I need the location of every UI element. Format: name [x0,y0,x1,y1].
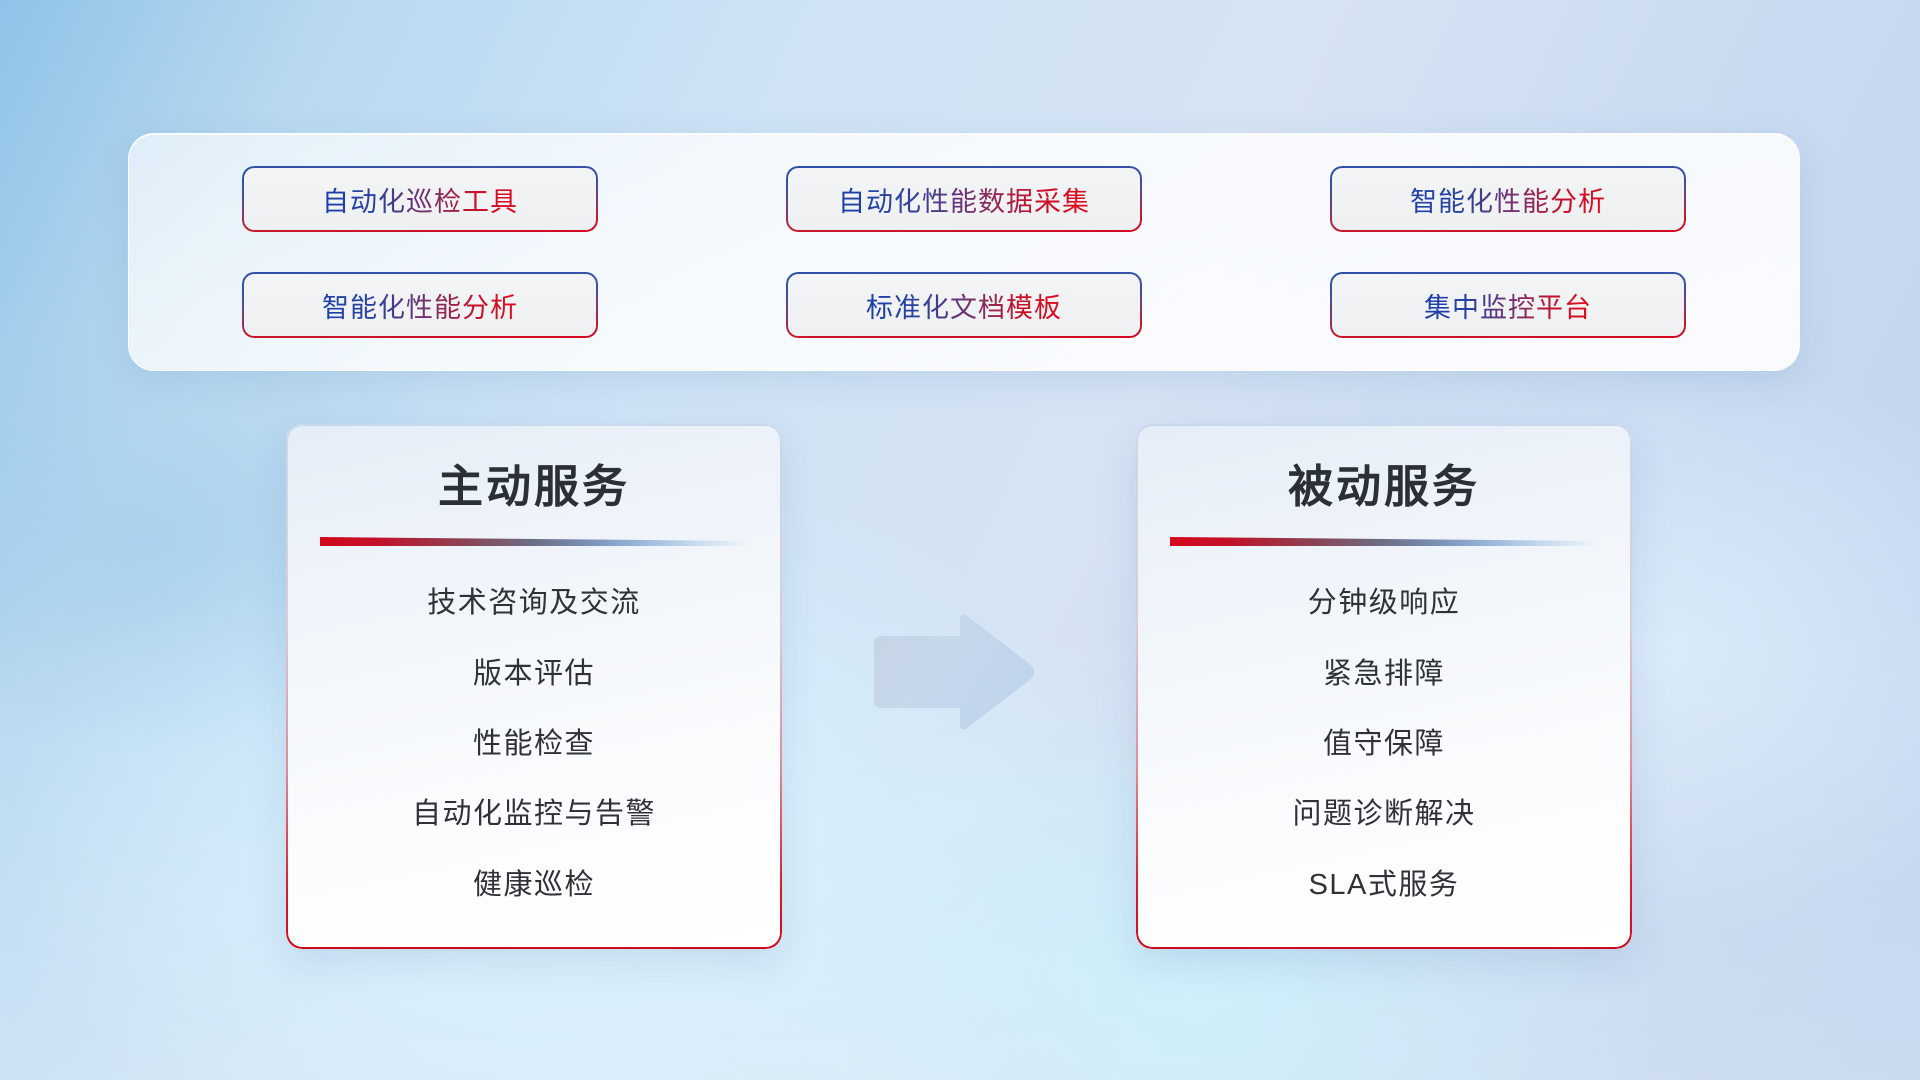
capability-tag-standardized-document-template[interactable]: 标准化文档模板 [786,272,1142,338]
capability-tag-intelligent-performance-analysis-bottom[interactable]: 智能化性能分析 [242,272,598,338]
list-item: SLA式服务 [1309,861,1460,903]
arrow-right-icon [868,612,1038,732]
capability-tags-panel: 自动化巡检工具 自动化性能数据采集 智能化性能分析 智能化性能分析 标准化文档模… [128,133,1800,371]
service-card-passive-body: 被动服务 分钟级响应 紧急排障 值守保障 问题诊断解决 SLA式服务 [1136,424,1632,949]
service-card-passive-title: 被动服务 [1288,464,1480,509]
capability-tag-label: 自动化性能数据采集 [838,180,1090,219]
title-divider [320,535,748,549]
capability-tag-label: 智能化性能分析 [1410,180,1606,219]
service-card-active-title: 主动服务 [438,464,630,509]
list-item: 自动化监控与告警 [412,790,656,832]
list-item: 紧急排障 [1323,650,1445,692]
list-item: 版本评估 [473,650,595,692]
capability-tag-label: 集中监控平台 [1424,286,1592,325]
service-card-active-list: 技术咨询及交流 版本评估 性能检查 自动化监控与告警 健康巡检 [320,559,748,923]
list-item: 技术咨询及交流 [427,579,641,621]
service-card-active: 主动服务 技术咨询及交流 版本评估 性能检查 自动化监控与告警 健康巡检 [286,424,782,949]
capability-tag-intelligent-performance-analysis-top[interactable]: 智能化性能分析 [1330,166,1686,232]
list-item: 性能检查 [473,720,595,762]
capability-tag-automated-inspection-tool[interactable]: 自动化巡检工具 [242,166,598,232]
capability-tag-automated-performance-data-collection[interactable]: 自动化性能数据采集 [786,166,1142,232]
capability-tag-label: 标准化文档模板 [866,286,1062,325]
capability-tag-label: 自动化巡检工具 [322,180,518,219]
service-card-passive-list: 分钟级响应 紧急排障 值守保障 问题诊断解决 SLA式服务 [1170,559,1598,923]
title-divider [1170,535,1598,549]
service-card-passive: 被动服务 分钟级响应 紧急排障 值守保障 问题诊断解决 SLA式服务 [1136,424,1632,949]
list-item: 值守保障 [1323,720,1445,762]
capability-tag-centralized-monitoring-platform[interactable]: 集中监控平台 [1330,272,1686,338]
list-item: 问题诊断解决 [1292,790,1475,832]
service-card-active-body: 主动服务 技术咨询及交流 版本评估 性能检查 自动化监控与告警 健康巡检 [286,424,782,949]
list-item: 分钟级响应 [1308,579,1461,621]
capability-tag-label: 智能化性能分析 [322,286,518,325]
list-item: 健康巡检 [473,861,595,903]
